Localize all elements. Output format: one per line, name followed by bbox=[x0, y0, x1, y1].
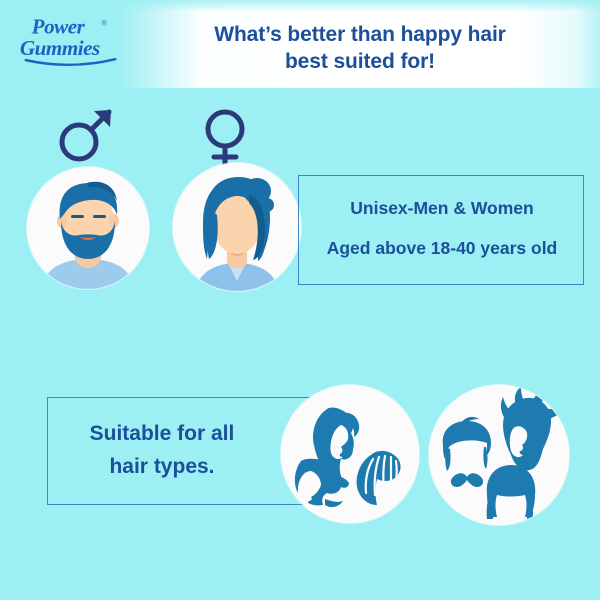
power-gummies-logo: Power Gummies ® bbox=[18, 10, 123, 68]
hair-types-line-2: hair types. bbox=[48, 451, 276, 484]
female-avatar bbox=[173, 163, 301, 291]
male-gender-icon bbox=[55, 104, 117, 166]
hair-types-box: Suitable for all hair types. bbox=[47, 397, 317, 505]
headline-line-1: What’s better than happy hair bbox=[214, 23, 506, 46]
audience-info-box: Unisex-Men & Women Aged above 18-40 year… bbox=[298, 175, 584, 285]
audience-line-1: Unisex-Men & Women bbox=[299, 198, 585, 219]
headline-line-2: best suited for! bbox=[150, 49, 570, 76]
female-gender-icon bbox=[197, 108, 253, 170]
poster-canvas: Power Gummies ® What’s better than happy… bbox=[0, 0, 600, 600]
women-hairstyles-circle bbox=[281, 385, 419, 523]
men-hairstyles-circle bbox=[429, 385, 569, 525]
svg-text:Gummies: Gummies bbox=[20, 36, 100, 60]
audience-line-2: Aged above 18-40 years old bbox=[299, 238, 585, 259]
male-avatar bbox=[27, 167, 149, 289]
hair-types-line-1: Suitable for all bbox=[48, 418, 276, 451]
svg-text:®: ® bbox=[101, 19, 107, 28]
hair-types-text: Suitable for all hair types. bbox=[48, 418, 276, 483]
svg-text:Power: Power bbox=[31, 15, 86, 39]
page-headline: What’s better than happy hair best suite… bbox=[150, 22, 570, 76]
